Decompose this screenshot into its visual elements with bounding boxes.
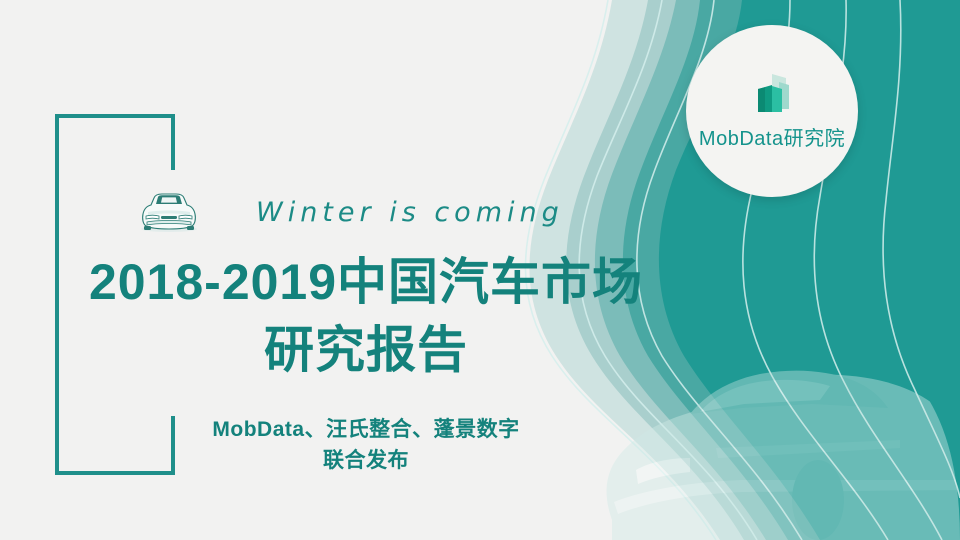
- car-front-icon: [138, 190, 200, 234]
- subtitle-line-1: MobData、汪氏整合、蓬景数字: [56, 414, 676, 445]
- logo-wordmark: MobData研究院: [699, 122, 845, 151]
- title-line-1: 2018-2019中国汽车市场: [56, 248, 676, 316]
- logo-badge: MobData研究院: [686, 25, 858, 197]
- subtitle: MobData、汪氏整合、蓬景数字 联合发布: [56, 414, 676, 476]
- presentation-cover-slide: Winter is coming 2018-2019中国汽车市场 研究报告 Mo…: [0, 0, 960, 540]
- subtitle-line-2: 联合发布: [56, 445, 676, 476]
- mobdata-building-mark-icon: [746, 72, 798, 118]
- tagline-row: Winter is coming: [138, 186, 564, 238]
- tagline-text: Winter is coming: [256, 197, 564, 228]
- page-title: 2018-2019中国汽车市场 研究报告: [56, 248, 676, 384]
- title-line-2: 研究报告: [56, 316, 676, 384]
